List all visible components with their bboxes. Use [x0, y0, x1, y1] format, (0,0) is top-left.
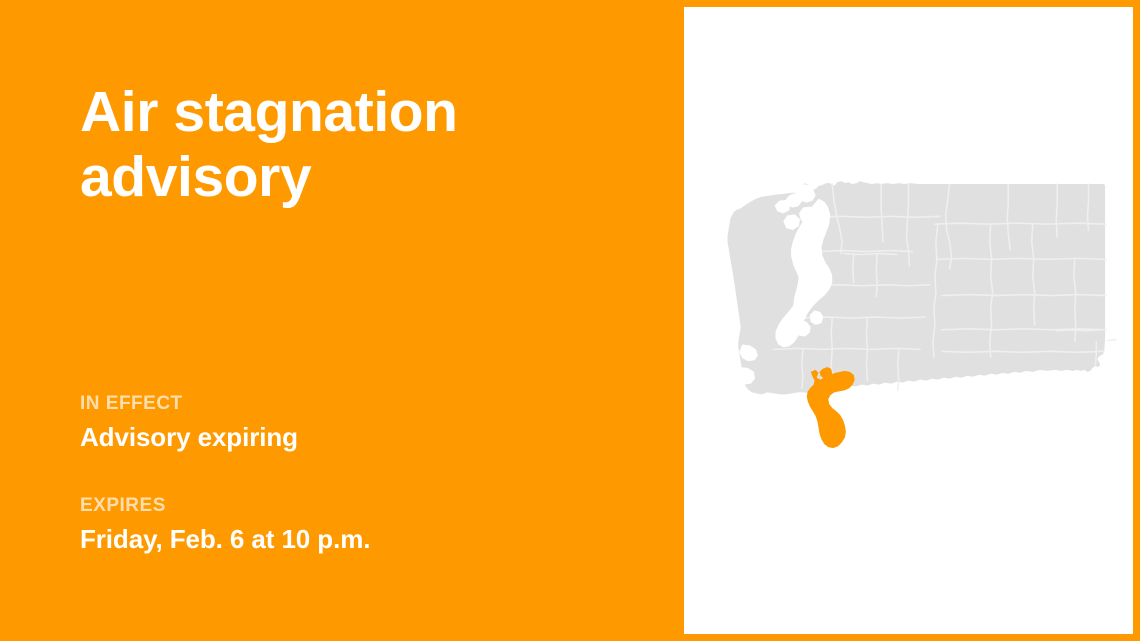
detail-block-expires: EXPIRES Friday, Feb. 6 at 10 p.m. — [80, 494, 640, 555]
expires-value: Friday, Feb. 6 at 10 p.m. — [80, 524, 640, 555]
in-effect-value: Advisory expiring — [80, 422, 640, 453]
in-effect-label: IN EFFECT — [80, 392, 640, 416]
alert-info-panel: Air stagnation advisory IN EFFECT Adviso… — [0, 0, 684, 641]
washington-state-map — [684, 7, 1133, 634]
map-land-group — [728, 181, 1106, 394]
alert-title-line-1: Air stagnation — [80, 80, 600, 145]
alert-title-line-2: advisory — [80, 145, 600, 210]
alert-title: Air stagnation advisory — [80, 80, 600, 210]
highlighted-alert-county — [807, 367, 855, 448]
detail-block-in-effect: IN EFFECT Advisory expiring — [80, 392, 640, 453]
weather-alert-card: Air stagnation advisory IN EFFECT Adviso… — [0, 0, 1140, 641]
expires-label: EXPIRES — [80, 494, 640, 518]
map-panel — [684, 0, 1140, 641]
